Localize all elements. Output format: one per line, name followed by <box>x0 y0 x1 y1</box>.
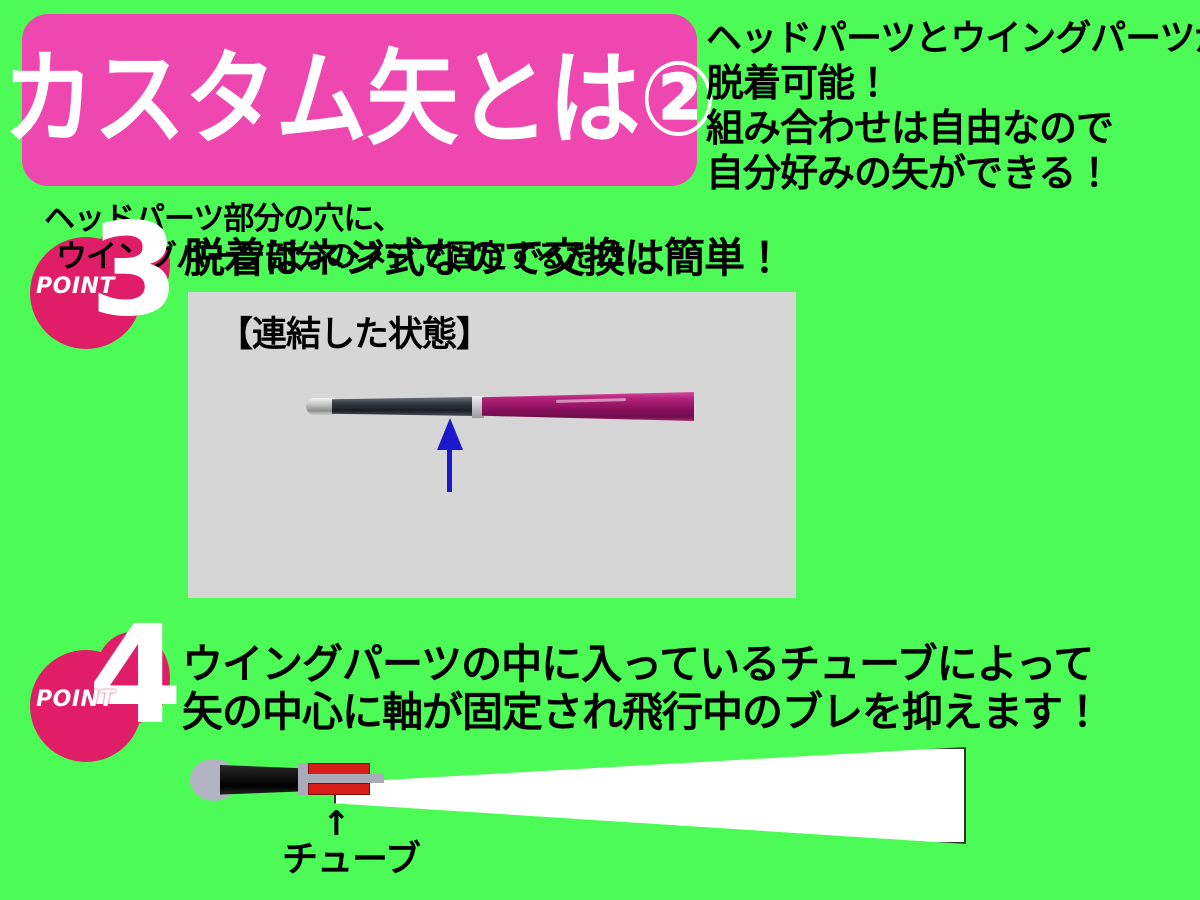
intro-line-2: 脱着可能！ <box>706 61 1196 106</box>
arrow-stem <box>447 444 452 492</box>
slide-canvas: カスタム矢とは② ヘッドパーツとウイングパーツが 脱着可能！ 組み合わせは自由な… <box>0 0 1200 900</box>
intro-line-3: 組み合わせは自由なので <box>706 106 1196 151</box>
point-4-heading-line-2: 矢の中心に軸が固定され飛行中のブレを抑えます！ <box>182 688 1102 736</box>
wing-part-wedge <box>334 747 966 844</box>
intro-text-block: ヘッドパーツとウイングパーツが 脱着可能！ 組み合わせは自由なので 自分好みの矢… <box>706 16 1196 196</box>
arrow-head <box>437 418 463 450</box>
assembled-arrow-photo <box>306 388 694 424</box>
head-part-shaft <box>332 397 474 416</box>
title-banner: カスタム矢とは② <box>22 14 697 186</box>
head-part-shaft <box>220 763 302 796</box>
badge-label-3: POINT <box>36 274 115 299</box>
tube-label: チューブ <box>282 840 420 880</box>
point-4-heading-line-1: ウイングパーツの中に入っているチューブによって <box>182 640 1102 688</box>
wing-part-shaft <box>482 392 694 421</box>
tube-lower-segment <box>308 783 370 795</box>
connected-state-panel: 【連結した状態】 <box>188 292 796 598</box>
blue-up-arrow-icon <box>432 418 468 492</box>
intro-line-1: ヘッドパーツとウイングパーツが <box>706 16 1196 61</box>
badge-number-3: 3 <box>90 207 179 335</box>
tube-schematic: ↑ チューブ <box>190 735 980 895</box>
badge-number-4: 4 <box>88 608 183 744</box>
point-4-heading: ウイングパーツの中に入っているチューブによって 矢の中心に軸が固定され飛行中のブ… <box>182 640 1102 736</box>
badge-label-4: POINT <box>36 687 115 712</box>
page-title: カスタム矢とは② <box>3 48 717 151</box>
arrow-tip-icon <box>306 398 336 415</box>
point-badge-4: 4 POINT <box>22 632 172 762</box>
panel-title: 【連結した状態】 <box>218 306 490 357</box>
intro-line-4: 自分好みの矢ができる！ <box>706 151 1196 196</box>
inner-axis-shaft <box>304 774 384 783</box>
